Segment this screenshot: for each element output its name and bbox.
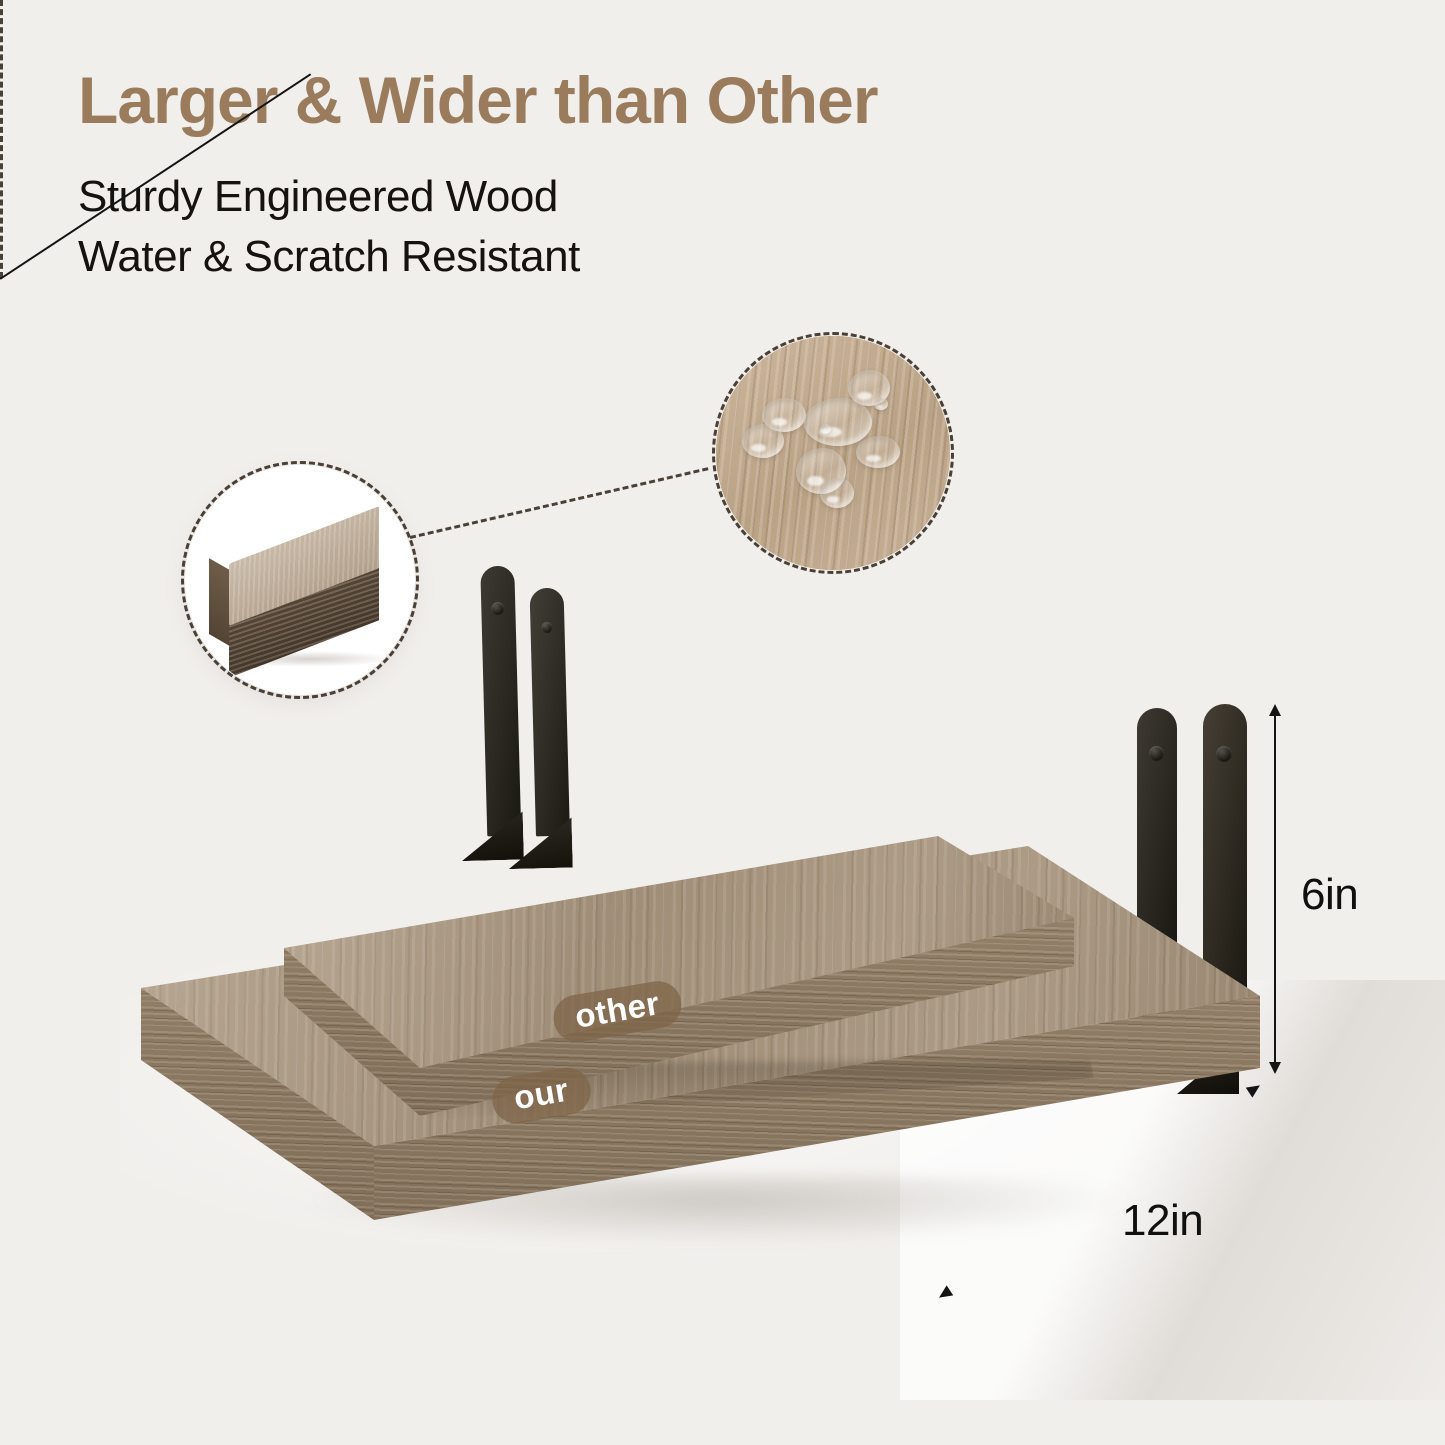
dimension-label-depth: 12in [1122, 1196, 1203, 1246]
water-drop [742, 424, 784, 458]
callout-circle-water [716, 336, 950, 570]
bracket-screw-icon [1149, 746, 1164, 761]
callout-circle-edge [185, 465, 415, 695]
bracket-left-rear [480, 566, 522, 855]
bracket-screw-icon [1216, 746, 1232, 762]
bracket-left-front [529, 588, 570, 857]
dimension-arrow-down-icon [1269, 1062, 1281, 1074]
callout-connector-diagonal [410, 467, 709, 539]
product-feature-image: Larger & Wider than Other Sturdy Enginee… [0, 0, 1445, 1445]
water-drop [804, 398, 872, 446]
subtitle-line-2: Water & Scratch Resistant [78, 232, 580, 282]
water-drop [820, 478, 854, 508]
dimension-arrow-up-icon [1269, 704, 1281, 716]
page-title: Larger & Wider than Other [78, 66, 878, 135]
dimension-line-height [1274, 712, 1276, 1068]
water-drop [874, 398, 888, 410]
water-drop [856, 436, 900, 468]
callout-connector-vertical [0, 0, 3, 278]
dimension-label-height: 6in [1301, 870, 1358, 920]
water-drop [820, 424, 831, 434]
